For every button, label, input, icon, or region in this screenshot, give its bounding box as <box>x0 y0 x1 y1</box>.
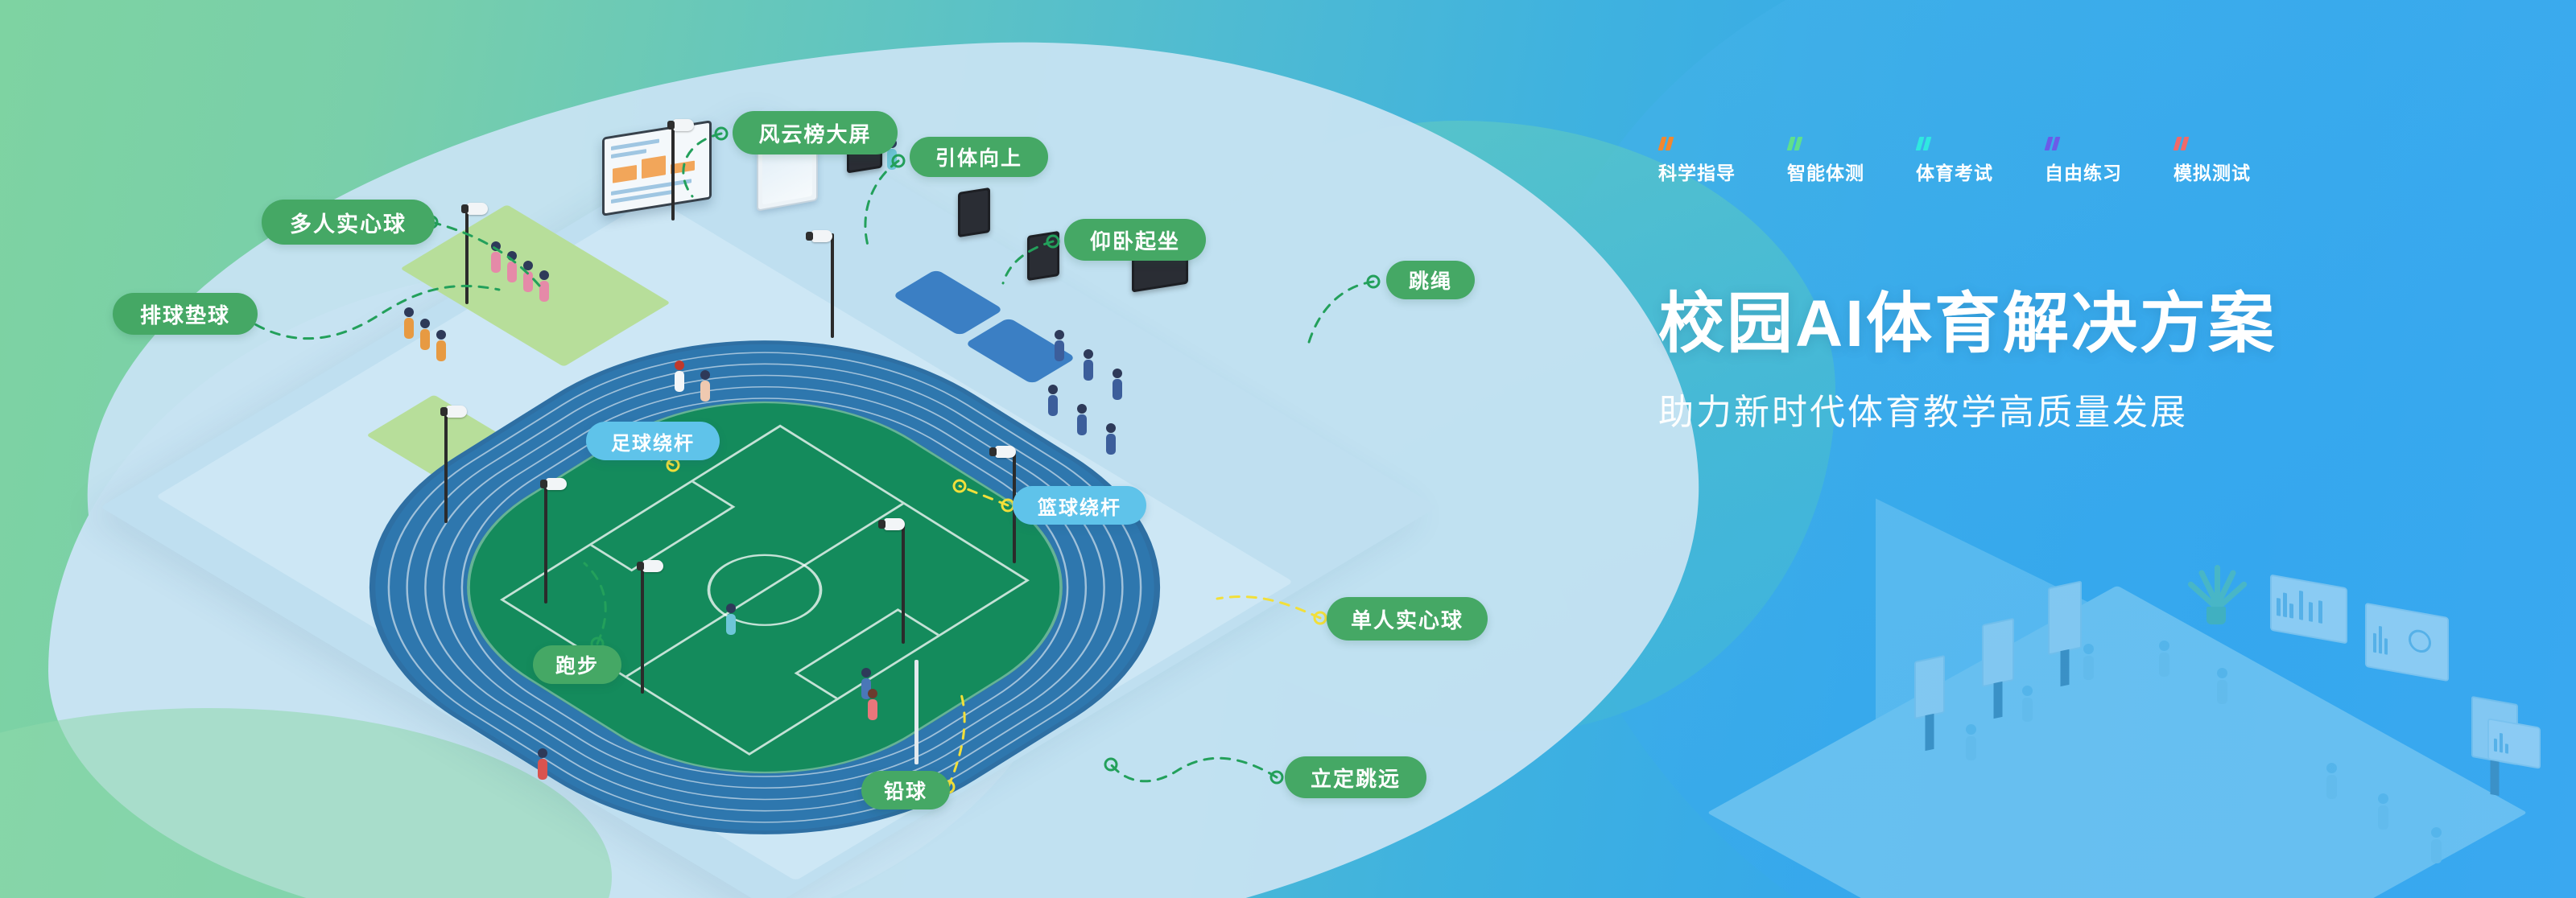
hotspot-label-3[interactable]: 风云榜大屏 <box>733 111 898 154</box>
gym-figure <box>2217 668 2227 704</box>
page-title: 校园AI体育解决方案 <box>1658 290 2463 359</box>
jumprope-figure <box>1084 349 1093 381</box>
feature-tag-label: 科学指导 <box>1658 158 1787 185</box>
hotspot-label-2[interactable]: 排球垫球 <box>113 293 258 335</box>
jumprope-figure <box>1055 330 1064 361</box>
runner-figure <box>700 370 710 402</box>
camera-head-5 <box>642 560 663 572</box>
hotspot-label-8[interactable]: 篮球绕杆 <box>1013 486 1146 525</box>
hotspot-label-10[interactable]: 跑步 <box>533 645 621 684</box>
slash-icon <box>1918 137 2045 150</box>
soccer-figure <box>726 603 736 635</box>
hotspot-label-7[interactable]: 足球绕杆 <box>586 422 720 460</box>
camera-head-4 <box>546 478 567 490</box>
feature-tag-label: 智能体测 <box>1787 158 1916 185</box>
gym-figure <box>1966 724 1976 760</box>
camera-head-6 <box>811 230 832 242</box>
gym-figure <box>2159 641 2169 677</box>
gym-dashboard-screen <box>2365 603 2449 682</box>
hotspot-label-9[interactable]: 单人实心球 <box>1327 597 1488 641</box>
page-subtitle: 助力新时代体育教学高质量发展 <box>1658 383 2463 435</box>
camera-head-7 <box>995 446 1016 458</box>
hotspot-label-1[interactable]: 多人实心球 <box>262 200 435 245</box>
indoor-gym-illustration <box>1876 555 2576 898</box>
jumprope-figure <box>1106 423 1116 455</box>
student-figure <box>436 330 446 361</box>
student-figure <box>420 319 430 350</box>
camera-pole-4 <box>544 483 547 603</box>
student-figure <box>491 241 501 273</box>
flag-pole <box>914 660 919 764</box>
feature-tag-label: 自由练习 <box>2045 158 2173 185</box>
monitor-situp <box>958 187 990 237</box>
hotspot-label-12[interactable]: 立定跳远 <box>1285 756 1426 798</box>
gym-figure <box>2022 686 2033 722</box>
slash-icon <box>2046 137 2173 150</box>
gym-dashboard-screen <box>2270 575 2347 645</box>
gym-figure <box>2326 763 2337 799</box>
camera-pole-1 <box>465 208 469 304</box>
jumprope-figure <box>1077 404 1087 435</box>
gym-kiosk <box>1914 655 1945 719</box>
gym-kiosk <box>1982 618 2014 688</box>
pitch-markings <box>499 424 1030 756</box>
feature-tag-label: 模拟测试 <box>2173 158 2302 185</box>
shotput-figure <box>538 748 547 780</box>
feature-tag-5[interactable]: 模拟测试 <box>2173 137 2302 185</box>
runner-figure <box>675 360 684 392</box>
monitor-situp-2 <box>1027 231 1059 281</box>
camera-head-8 <box>884 518 905 530</box>
camera-head-3 <box>446 406 467 418</box>
feature-tag-4[interactable]: 自由练习 <box>2045 137 2173 185</box>
slash-icon <box>1789 137 1916 150</box>
student-figure <box>507 251 517 282</box>
camera-pole-6 <box>831 233 834 338</box>
camera-head-2 <box>673 119 694 131</box>
feature-tag-3[interactable]: 体育考试 <box>1916 137 2045 185</box>
gym-figure <box>2083 644 2094 680</box>
gym-figure <box>2431 827 2442 863</box>
gym-figure <box>2378 793 2388 830</box>
plant-decoration <box>2194 562 2237 624</box>
feature-tag-2[interactable]: 智能体测 <box>1787 137 1916 185</box>
stadium-illustration <box>346 105 1385 797</box>
camera-head-1 <box>467 203 488 215</box>
jump-figure <box>868 689 877 720</box>
student-figure <box>539 270 549 302</box>
slash-icon <box>1660 137 1787 150</box>
camera-pole-2 <box>671 124 675 220</box>
jumprope-figure <box>1113 369 1122 400</box>
hotspot-label-5[interactable]: 仰卧起坐 <box>1064 219 1206 261</box>
hero-banner: 多人实心球排球垫球风云榜大屏引体向上仰卧起坐跳绳足球绕杆篮球绕杆单人实心球跑步铅… <box>0 0 2576 898</box>
hotspot-label-11[interactable]: 铅球 <box>861 771 950 809</box>
hotspot-label-4[interactable]: 引体向上 <box>910 137 1048 177</box>
student-figure <box>523 261 533 292</box>
hero-copy: 科学指导智能体测体育考试自由练习模拟测试 校园AI体育解决方案 助力新时代体育教… <box>1658 137 2463 435</box>
camera-pole-8 <box>902 523 905 644</box>
hotspot-label-6[interactable]: 跳绳 <box>1386 261 1475 299</box>
feature-tag-1[interactable]: 科学指导 <box>1658 137 1787 185</box>
feature-tag-list: 科学指导智能体测体育考试自由练习模拟测试 <box>1658 137 2463 185</box>
goal-box-left <box>590 481 735 572</box>
student-figure <box>404 307 414 339</box>
gym-kiosk <box>2048 581 2082 656</box>
jumprope-figure <box>1048 385 1058 416</box>
slash-icon <box>2175 137 2302 150</box>
feature-tag-label: 体育考试 <box>1916 158 2045 185</box>
camera-pole-3 <box>444 410 448 523</box>
camera-pole-5 <box>641 565 644 694</box>
